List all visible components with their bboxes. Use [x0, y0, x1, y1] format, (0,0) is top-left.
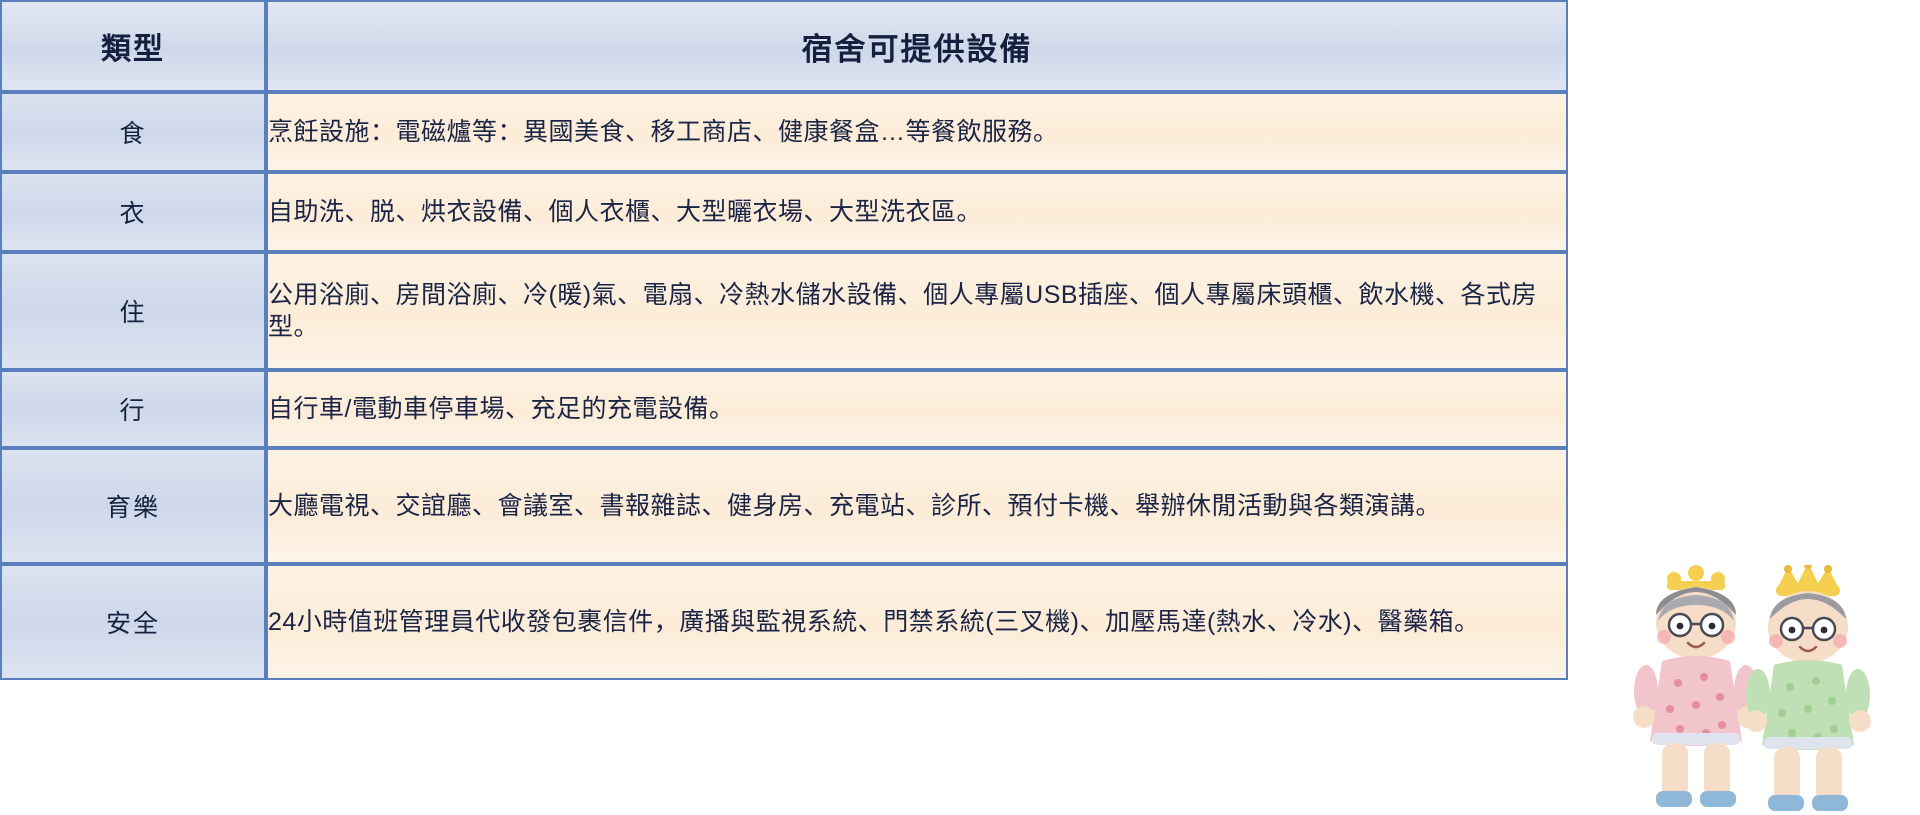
table-header-row: 類型 宿舍可提供設備	[0, 0, 1568, 92]
facility-cell-transport: 自行車/電動車停車場、充足的充電設備。	[266, 370, 1568, 448]
table-row: 衣 自助洗、脱、烘衣設備、個人衣櫃、大型曬衣場、大型洗衣區。	[0, 172, 1568, 252]
type-cell-food: 食	[0, 92, 266, 172]
type-cell-safety: 安全	[0, 564, 266, 680]
table-row: 育樂 大廳電視、交誼廳、會議室、書報雜誌、健身房、充電站、診所、預付卡機、舉辦休…	[0, 448, 1568, 564]
table-row: 行 自行車/電動車停車場、充足的充電設備。	[0, 370, 1568, 448]
mascot-characters-illustration	[1612, 565, 1912, 815]
facility-cell-clothing: 自助洗、脱、烘衣設備、個人衣櫃、大型曬衣場、大型洗衣區。	[266, 172, 1568, 252]
type-cell-transport: 行	[0, 370, 266, 448]
facility-cell-food: 烹飪設施：電磁爐等：異國美食、移工商店、健康餐盒…等餐飲服務。	[266, 92, 1568, 172]
header-cell-type: 類型	[0, 0, 266, 92]
table-row: 住 公用浴廁、房間浴廁、冷(暖)氣、電扇、冷熱水儲水設備、個人專屬USB插座、個…	[0, 252, 1568, 370]
facility-cell-recreation: 大廳電視、交誼廳、會議室、書報雜誌、健身房、充電站、診所、預付卡機、舉辦休閒活動…	[266, 448, 1568, 564]
facility-cell-housing: 公用浴廁、房間浴廁、冷(暖)氣、電扇、冷熱水儲水設備、個人專屬USB插座、個人專…	[266, 252, 1568, 370]
table-canvas: HUMAN.CARE 美家人力．樂齡	[0, 0, 1920, 815]
type-cell-housing: 住	[0, 252, 266, 370]
facility-cell-safety: 24小時值班管理員代收發包裹信件，廣播與監視系統、門禁系統(三叉機)、加壓馬達(…	[266, 564, 1568, 680]
table-row: 食 烹飪設施：電磁爐等：異國美食、移工商店、健康餐盒…等餐飲服務。	[0, 92, 1568, 172]
type-cell-clothing: 衣	[0, 172, 266, 252]
dormitory-facilities-table: 類型 宿舍可提供設備 食 烹飪設施：電磁爐等：異國美食、移工商店、健康餐盒…等餐…	[0, 0, 1568, 680]
header-cell-facility: 宿舍可提供設備	[266, 0, 1568, 92]
type-cell-recreation: 育樂	[0, 448, 266, 564]
table-row: 安全 24小時值班管理員代收發包裹信件，廣播與監視系統、門禁系統(三叉機)、加壓…	[0, 564, 1568, 680]
